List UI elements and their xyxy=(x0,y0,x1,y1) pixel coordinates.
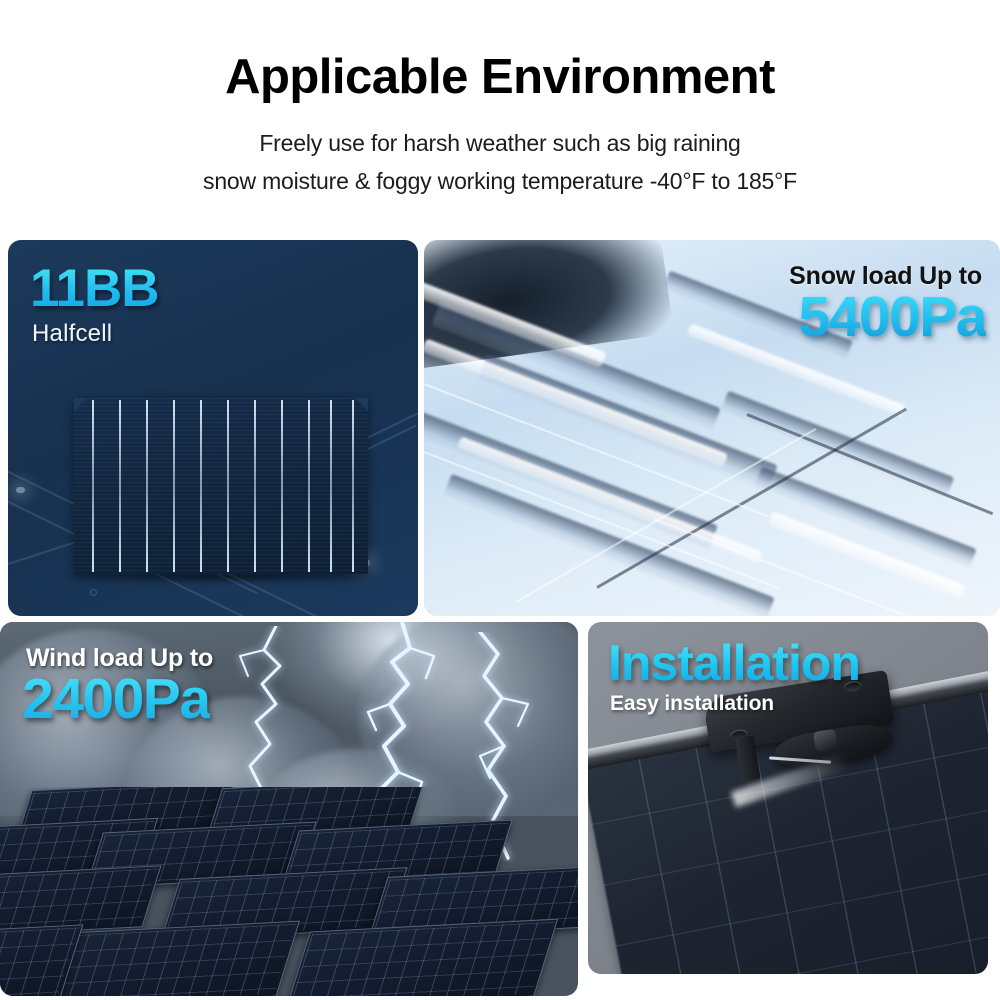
page-header: Applicable Environment Freely use for ha… xyxy=(0,0,1000,200)
halfcell-subtitle: Halfcell xyxy=(32,320,112,348)
panel-snow-load[interactable]: Snow load Up to 5400Pa xyxy=(424,240,1000,616)
halfcell-title: 11BB xyxy=(30,262,159,315)
panel-installation[interactable]: Installation Easy installation xyxy=(588,622,988,974)
page-subtitle: Freely use for harsh weather such as big… xyxy=(0,125,1000,200)
panel-halfcell[interactable]: 11BB Halfcell xyxy=(8,240,418,616)
feature-panel-grid: 11BB Halfcell Snow load Up t xyxy=(0,236,1000,1000)
solar-panel-array-image xyxy=(0,787,578,996)
subtitle-line-1: Freely use for harsh weather such as big… xyxy=(0,125,1000,162)
subtitle-line-2: snow moisture & foggy working temperatur… xyxy=(0,163,1000,200)
snow-load-value: 5400Pa xyxy=(798,286,986,349)
wind-load-value: 2400Pa xyxy=(22,668,210,731)
page-title: Applicable Environment xyxy=(0,52,1000,103)
panel-wind-load[interactable]: Wind load Up to 2400Pa xyxy=(0,622,578,996)
solar-cell-image xyxy=(74,398,368,574)
installation-title: Installation xyxy=(608,638,860,688)
installation-subtitle: Easy installation xyxy=(610,692,774,716)
